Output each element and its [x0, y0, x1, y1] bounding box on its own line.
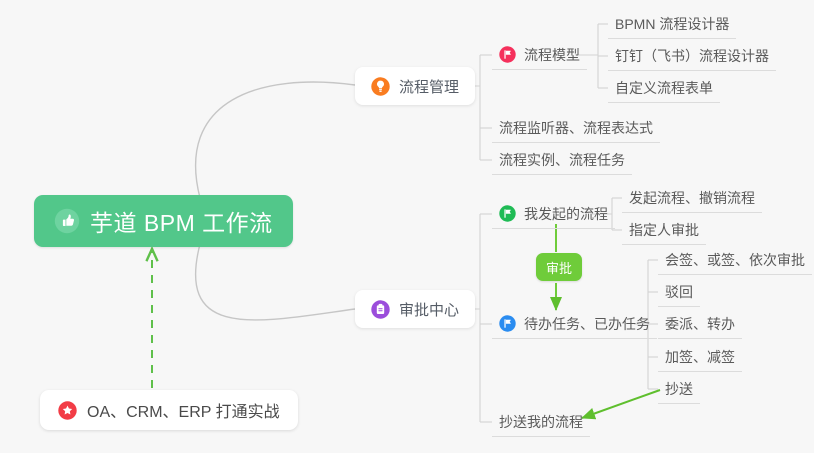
- branch-node-approval-center[interactable]: 审批中心: [355, 290, 475, 328]
- topic-label: 流程实例、流程任务: [499, 150, 625, 170]
- topic-label-cc-to-me: 抄送我的流程: [499, 412, 583, 432]
- topic-label: 委派、转办: [665, 314, 735, 334]
- branch-label-approval-center: 审批中心: [399, 299, 459, 320]
- topic-countersign-options[interactable]: 会签、或签、依次审批: [658, 245, 812, 275]
- topic-custom-process-form[interactable]: 自定义流程表单: [608, 73, 720, 103]
- arrow-cc-to-cc-my-flow: [582, 390, 660, 418]
- lightbulb-icon: [371, 77, 390, 96]
- annotation-chip-approve: 审批: [536, 253, 582, 281]
- branch-label-process-management: 流程管理: [399, 76, 459, 97]
- topic-process-instance-task[interactable]: 流程实例、流程任务: [492, 145, 632, 175]
- topic-label-process-model: 流程模型: [524, 45, 580, 65]
- topic-label: 抄送: [665, 379, 693, 399]
- topic-label: 钉钉（飞书）流程设计器: [615, 46, 769, 66]
- mindmap-canvas: 芋道 BPM 工作流 流程管理 审批中心: [0, 0, 814, 453]
- star-icon: [58, 401, 77, 420]
- flag-icon: [499, 205, 516, 222]
- thumbs-up-icon: [54, 208, 80, 234]
- branch-node-process-management[interactable]: 流程管理: [355, 67, 475, 105]
- topic-todo-and-done-tasks[interactable]: 待办任务、已办任务: [492, 309, 657, 339]
- topic-reject[interactable]: 驳回: [658, 277, 700, 307]
- topic-cc-to-me-processes[interactable]: 抄送我的流程: [492, 407, 590, 437]
- clipboard-icon: [371, 300, 390, 319]
- topic-label: 自定义流程表单: [615, 78, 713, 98]
- topic-label: 流程监听器、流程表达式: [499, 118, 653, 138]
- annotation-chip-label: 审批: [546, 258, 572, 277]
- topic-process-model[interactable]: 流程模型: [492, 40, 587, 70]
- flag-icon: [499, 315, 516, 332]
- topic-label-todo-and-done-tasks: 待办任务、已办任务: [524, 314, 650, 334]
- root-node[interactable]: 芋道 BPM 工作流: [34, 195, 293, 247]
- root-node-label: 芋道 BPM 工作流: [90, 204, 273, 238]
- topic-add-remove-sign[interactable]: 加签、减签: [658, 342, 742, 372]
- topic-start-cancel-process[interactable]: 发起流程、撤销流程: [622, 183, 762, 213]
- topic-label-my-started-processes: 我发起的流程: [524, 204, 608, 224]
- topic-label: 加签、减签: [665, 347, 735, 367]
- topic-process-listener-expression[interactable]: 流程监听器、流程表达式: [492, 113, 660, 143]
- topic-label: 发起流程、撤销流程: [629, 188, 755, 208]
- curve-root-to-process-management: [196, 82, 355, 198]
- topic-label: BPMN 流程设计器: [615, 14, 729, 34]
- topic-dingtalk-designer[interactable]: 钉钉（飞书）流程设计器: [608, 41, 776, 71]
- curve-root-to-approval-center: [196, 244, 355, 320]
- callout-node-integration[interactable]: OA、CRM、ERP 打通实战: [40, 390, 298, 430]
- callout-node-label: OA、CRM、ERP 打通实战: [87, 398, 280, 422]
- topic-label: 驳回: [665, 282, 693, 302]
- topic-label: 会签、或签、依次审批: [665, 250, 805, 270]
- topic-bpmn-designer[interactable]: BPMN 流程设计器: [608, 9, 736, 39]
- topic-assignee-approval[interactable]: 指定人审批: [622, 215, 706, 245]
- flag-icon: [499, 46, 516, 63]
- topic-carbon-copy[interactable]: 抄送: [658, 374, 700, 404]
- topic-my-started-processes[interactable]: 我发起的流程: [492, 199, 615, 229]
- topic-label: 指定人审批: [629, 220, 699, 240]
- topic-delegate-transfer[interactable]: 委派、转办: [658, 309, 742, 339]
